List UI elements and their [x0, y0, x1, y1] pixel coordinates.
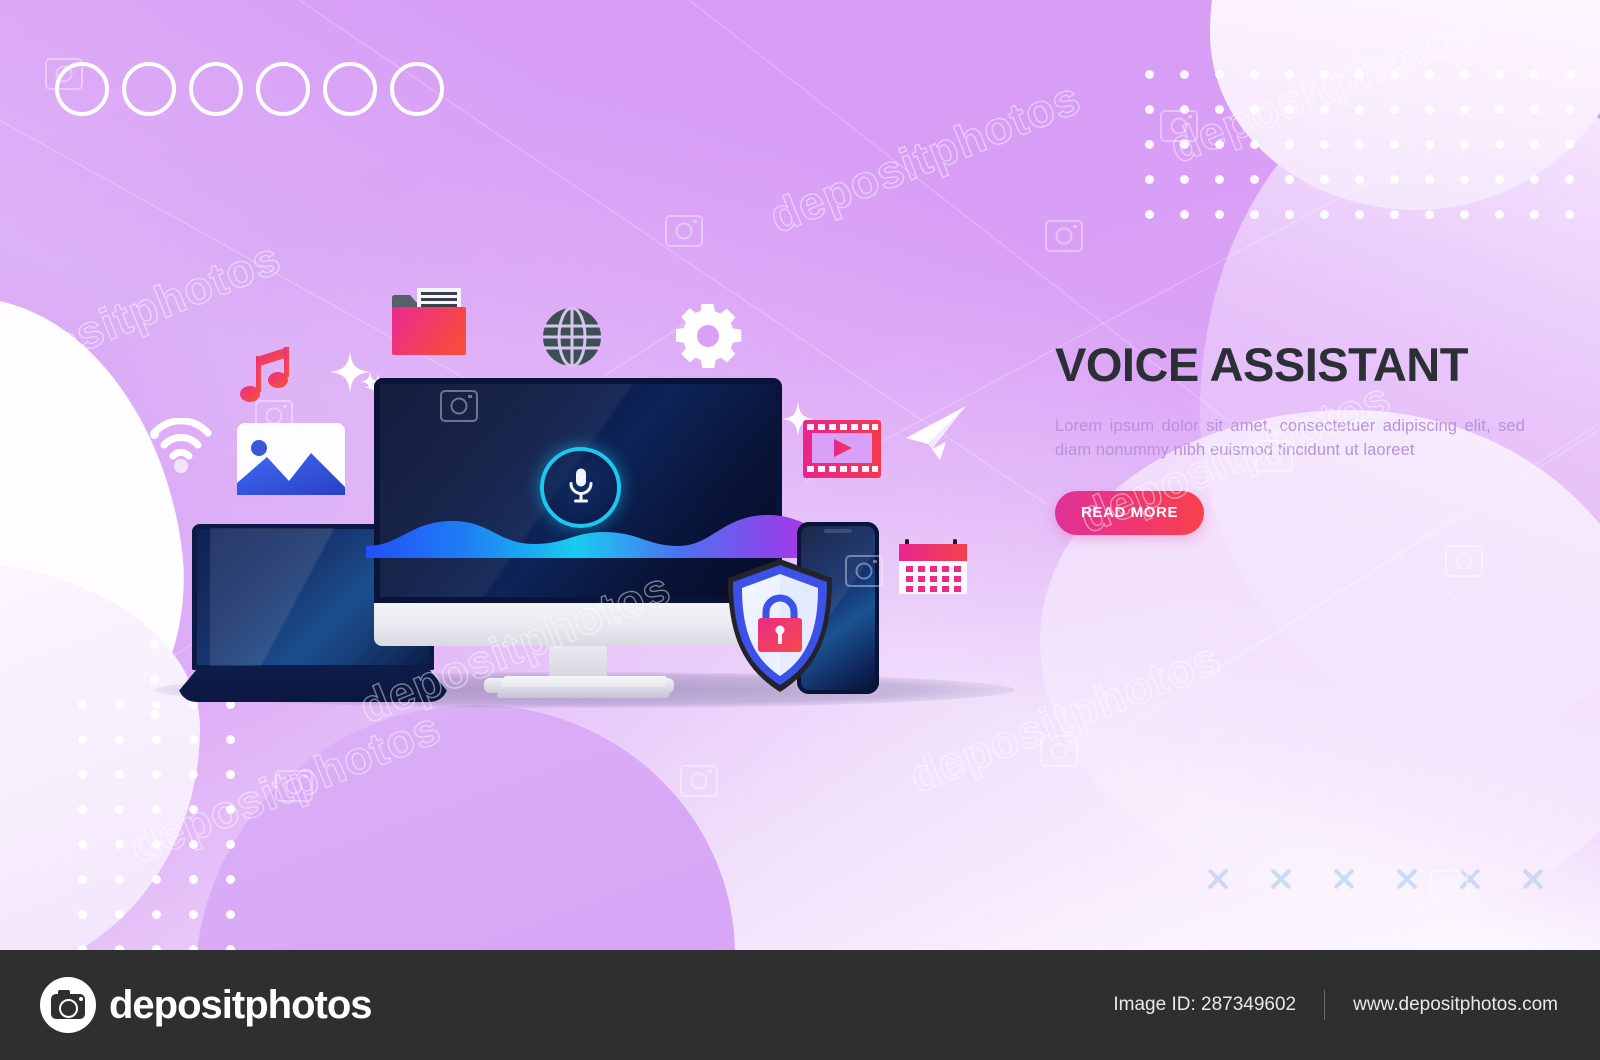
security-shield — [722, 556, 838, 696]
camera-icon — [1430, 870, 1468, 902]
footer-brand: depositphotos — [40, 977, 372, 1033]
decor-dot — [1355, 140, 1364, 149]
decor-dot — [1355, 105, 1364, 114]
decor-dot — [1250, 210, 1259, 219]
decor-dot — [1530, 140, 1539, 149]
decor-dot — [1355, 175, 1364, 184]
close-icon — [1205, 866, 1231, 892]
decor-dot — [1320, 210, 1329, 219]
camera-flash-dot — [79, 997, 83, 1001]
decor-dot — [1215, 175, 1224, 184]
decor-dot — [1180, 175, 1189, 184]
decor-dot — [1495, 70, 1504, 79]
camera-icon — [1445, 545, 1483, 577]
decor-dot — [1145, 105, 1154, 114]
camera-lens — [59, 999, 78, 1018]
decor-dot — [1460, 175, 1469, 184]
screenshot-canvas: VOICE ASSISTANT Lorem ipsum dolor sit am… — [0, 0, 1600, 1060]
decor-dot — [1250, 175, 1259, 184]
decor-dot — [1355, 210, 1364, 219]
decor-dot — [1390, 210, 1399, 219]
decor-x-mark-row — [1205, 866, 1546, 892]
decor-dot — [1215, 210, 1224, 219]
paper-plane-icon — [902, 404, 968, 469]
keyboard-body — [497, 687, 672, 698]
decor-dot — [1285, 210, 1294, 219]
camera-icon — [255, 400, 293, 432]
decor-dot — [1425, 175, 1434, 184]
soundwave-graphic — [366, 500, 866, 562]
keyboard-device — [498, 676, 670, 698]
decor-dot — [1530, 70, 1539, 79]
decor-dot — [1390, 175, 1399, 184]
footer-divider — [1324, 990, 1325, 1020]
camera-icon — [275, 770, 313, 802]
decor-dot — [1145, 140, 1154, 149]
decor-dot — [1285, 175, 1294, 184]
folder-icon — [390, 288, 470, 371]
film-icon — [803, 418, 881, 485]
camera-icon — [1255, 440, 1293, 472]
camera-icon — [440, 390, 478, 422]
camera-icon — [1045, 220, 1083, 252]
decor-dot — [1495, 105, 1504, 114]
decor-dot — [1180, 70, 1189, 79]
close-icon — [1394, 866, 1420, 892]
camera-icon — [1040, 735, 1078, 767]
decor-dot — [1495, 175, 1504, 184]
decor-dot — [1530, 105, 1539, 114]
image-id-label: Image ID: 287349602 — [1113, 994, 1296, 1016]
decor-dot — [1530, 175, 1539, 184]
decor-dot — [1320, 175, 1329, 184]
camera-icon — [45, 58, 83, 90]
website-link[interactable]: www.depositphotos.com — [1353, 994, 1558, 1016]
decor-dot — [1530, 210, 1539, 219]
decor-dot — [1215, 70, 1224, 79]
decor-dot — [1460, 210, 1469, 219]
decor-dot — [1390, 105, 1399, 114]
wifi-icon — [150, 418, 212, 479]
decor-dot — [1425, 105, 1434, 114]
decor-dot — [1425, 210, 1434, 219]
decor-dot — [1565, 175, 1574, 184]
decor-dot — [1320, 140, 1329, 149]
decor-dot — [1460, 140, 1469, 149]
close-icon — [1520, 866, 1546, 892]
decor-dot — [1565, 140, 1574, 149]
decor-dot — [1460, 105, 1469, 114]
decor-dot — [1495, 210, 1504, 219]
decor-dot — [1145, 175, 1154, 184]
page-title: VOICE ASSISTANT — [1055, 340, 1525, 389]
gear-icon — [676, 304, 742, 373]
camera-icon — [680, 765, 718, 797]
footer-meta: Image ID: 287349602 www.depositphotos.co… — [1113, 990, 1558, 1020]
decor-dot — [1145, 70, 1154, 79]
image-icon — [237, 423, 345, 500]
camera-icon — [845, 555, 883, 587]
calendar-icon — [897, 536, 969, 601]
camera-icon — [665, 215, 703, 247]
decor-dot — [1250, 70, 1259, 79]
camera-logo-icon — [40, 977, 96, 1033]
footer-bar: depositphotos Image ID: 287349602 www.de… — [0, 950, 1600, 1060]
brand-name: depositphotos — [109, 983, 372, 1028]
decor-dot — [1285, 140, 1294, 149]
decor-dot — [1565, 105, 1574, 114]
decor-dot — [1145, 210, 1154, 219]
decor-dot — [1425, 140, 1434, 149]
camera-icon — [1160, 110, 1198, 142]
decor-dot — [1460, 70, 1469, 79]
decor-dot — [1495, 140, 1504, 149]
close-icon — [1268, 866, 1294, 892]
decor-dot — [1565, 210, 1574, 219]
decor-dot — [1565, 70, 1574, 79]
decor-dot — [1180, 210, 1189, 219]
globe-icon — [541, 306, 603, 373]
close-icon — [1331, 866, 1357, 892]
decor-dot — [1390, 140, 1399, 149]
